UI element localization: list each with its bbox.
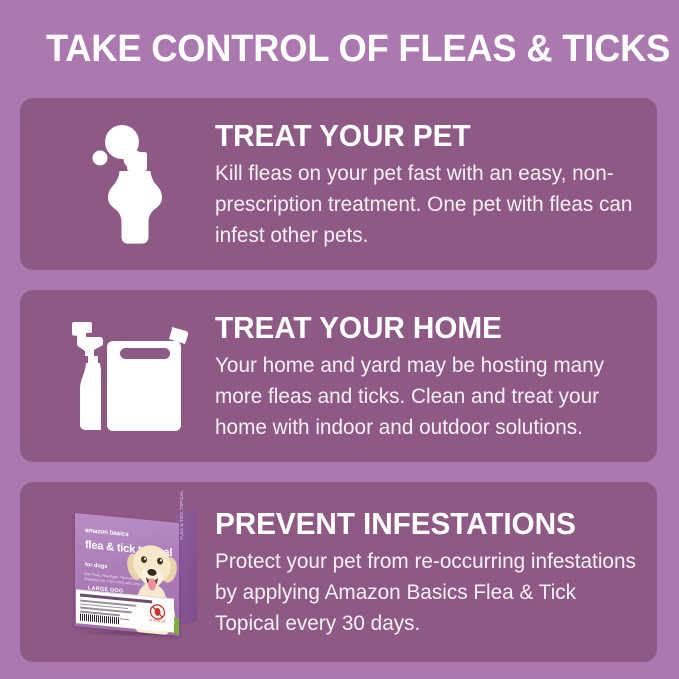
panel-description: Kill fleas on your pet fast with an easy… [215,158,642,251]
panel-icon-container: FLEA & TICK TOPICAL amazon basics flea &… [50,482,215,662]
panel-description: Your home and yard may be hosting many m… [215,350,642,443]
product-box-front-face: amazon basics flea & tick topical for do… [75,512,179,635]
flea-tick-infographic: TAKE CONTROL OF FLEAS & TICKS [0,0,679,679]
panel-description: Protect your pet from re-occurring infes… [215,546,642,639]
warning-stamp-icon: NOT FOR CATS [149,603,166,624]
panel-treat-your-home: TREAT YOUR HOME Your home and yard may b… [20,290,657,462]
panel-body: TREAT YOUR PET Kill fleas on your pet fa… [215,98,643,270]
amazon-basics-logo: amazon basics [85,526,129,537]
product-box-image: FLEA & TICK TOPICAL amazon basics flea &… [63,510,203,635]
page-title: TAKE CONTROL OF FLEAS & TICKS [46,26,619,76]
panel-heading: TREAT YOUR PET [215,119,626,153]
panel-heading: PREVENT INFESTATIONS [215,507,626,541]
shampoo-bottle-icon [81,122,185,246]
panel-heading: TREAT YOUR HOME [215,311,626,345]
product-subtitle: for dogs [85,561,107,569]
panel-treat-your-pet: TREAT YOUR PET Kill fleas on your pet fa… [20,98,657,270]
svg-text:NOT FOR CATS: NOT FOR CATS [149,617,166,623]
spray-bottle-and-jug-icon [68,317,198,435]
panel-prevent-infestations: FLEA & TICK TOPICAL amazon basics flea &… [20,482,657,662]
panel-body: TREAT YOUR HOME Your home and yard may b… [215,290,643,462]
panel-body: PREVENT INFESTATIONS Protect your pet fr… [215,482,643,662]
panel-icon-container [50,290,215,462]
panel-icon-container [50,98,215,270]
product-box-side-text: FLEA & TICK TOPICAL [179,468,184,540]
